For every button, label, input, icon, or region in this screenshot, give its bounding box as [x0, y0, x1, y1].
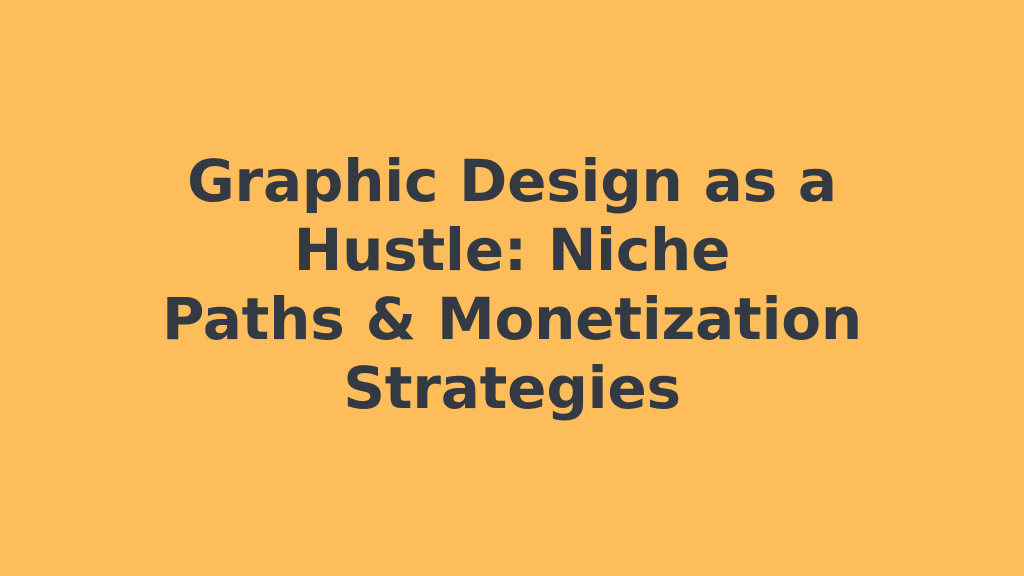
- title-slide: Graphic Design as a Hustle: Niche Paths …: [0, 0, 1024, 576]
- title-block: Graphic Design as a Hustle: Niche Paths …: [82, 147, 942, 423]
- page-title: Graphic Design as a Hustle: Niche Paths …: [82, 147, 942, 423]
